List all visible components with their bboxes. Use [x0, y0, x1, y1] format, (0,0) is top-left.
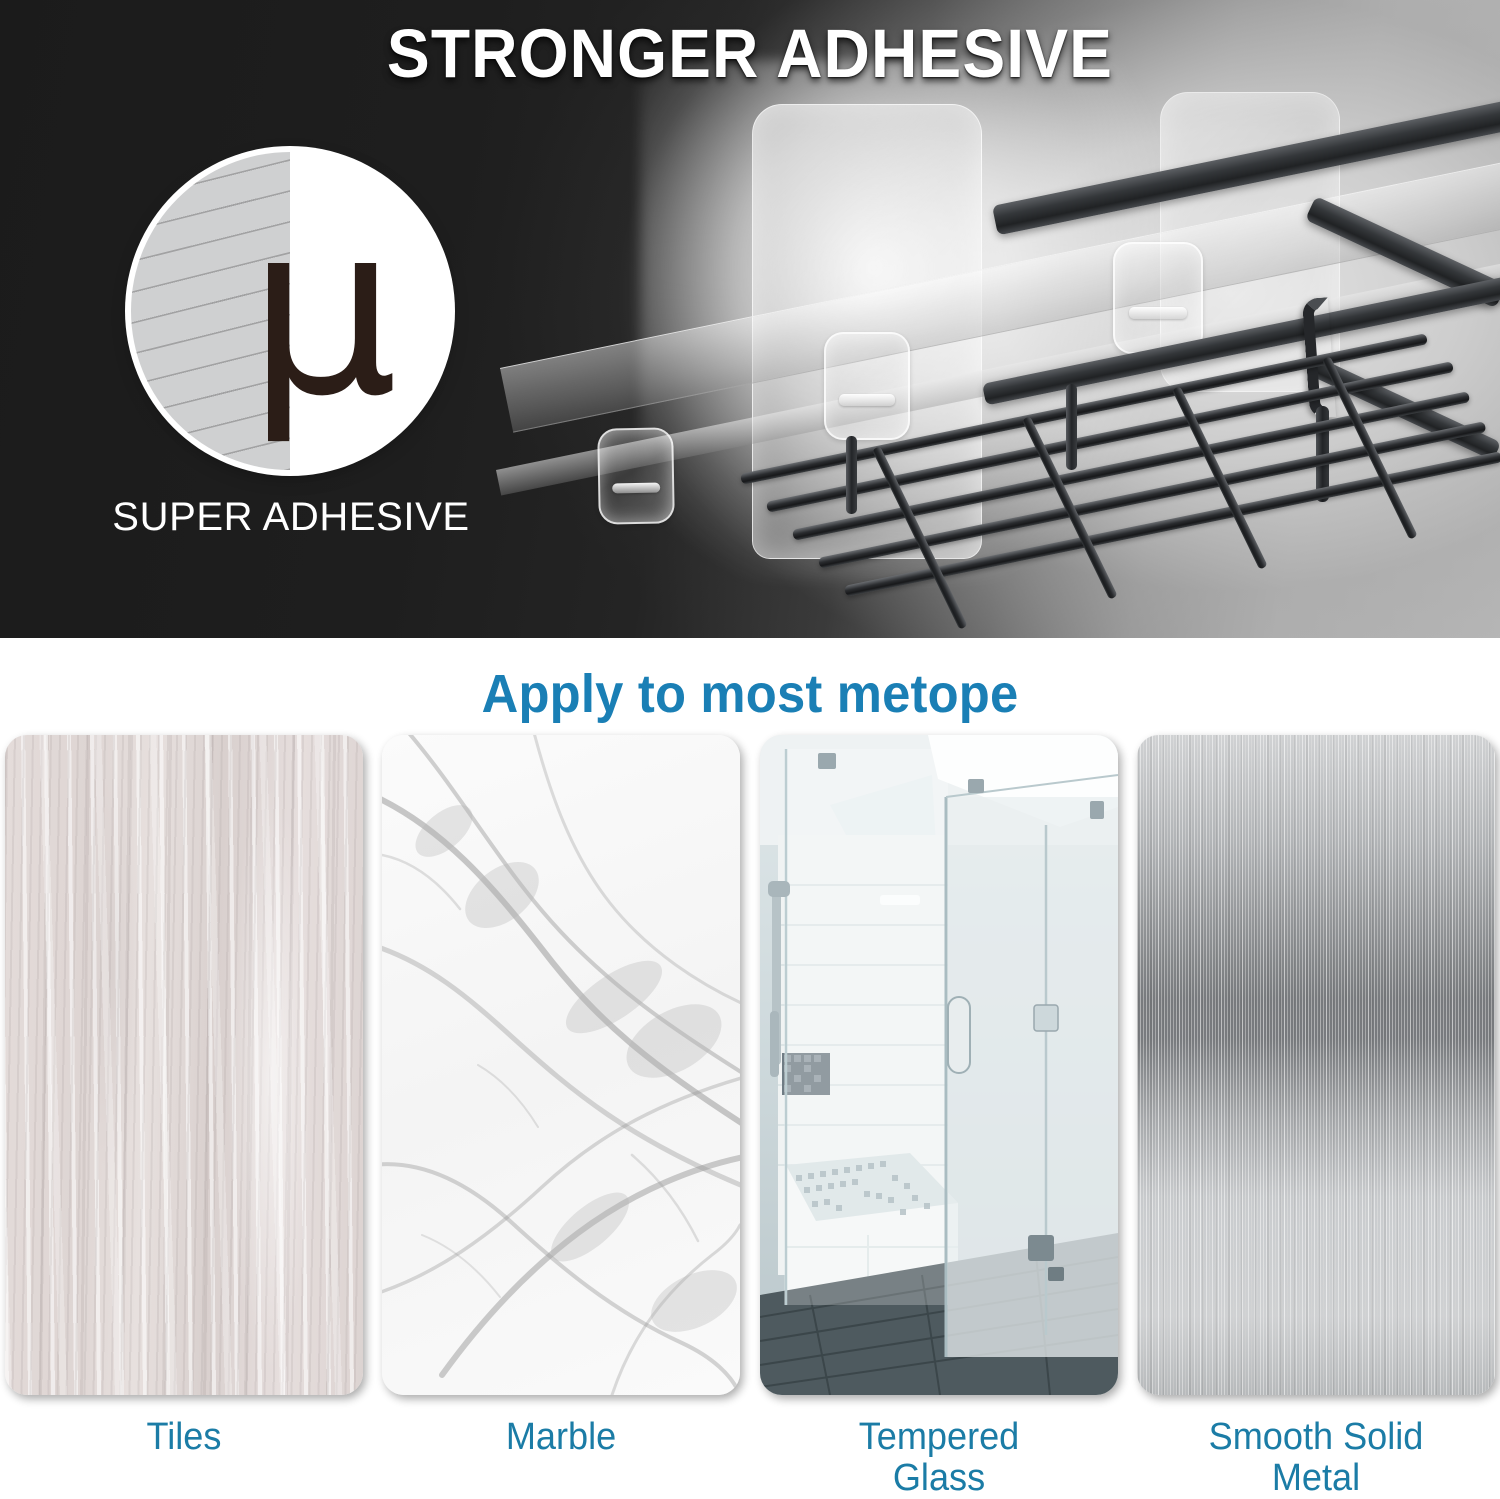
- super-adhesive-badge: μ: [131, 152, 449, 470]
- caddy-leg: [1066, 384, 1077, 470]
- page-title: STRONGER ADHESIVE: [53, 14, 1448, 93]
- marble-texture-image: [382, 735, 740, 1395]
- surfaces-section: Apply to most metope Tiles: [0, 638, 1500, 1470]
- caddy-leg: [846, 436, 857, 514]
- metal-texture-image: [1137, 735, 1495, 1395]
- surface-swatch-row: Tiles: [0, 735, 1500, 1395]
- surface-label-marble: Marble: [391, 1417, 731, 1458]
- surface-item-tempered-glass: Tempered Glass: [760, 735, 1118, 1395]
- shower-caddy-shelf: [760, 170, 1500, 638]
- surface-item-marble: Marble: [382, 735, 740, 1395]
- mu-symbol-icon: μ: [248, 193, 398, 429]
- basket-wire: [792, 391, 1470, 541]
- surface-item-metal: Smooth Solid Metal: [1137, 735, 1495, 1395]
- badge-caption: SUPER ADHESIVE: [56, 494, 526, 541]
- section-title: Apply to most metope: [45, 663, 1455, 725]
- tempered-glass-photo: [760, 735, 1118, 1395]
- surface-label-tiles: Tiles: [14, 1417, 354, 1458]
- hero-banner: μ SUPER ADHESIVE STRONGER ADHESIVE: [0, 0, 1500, 638]
- surface-label-tempered-glass: Tempered Glass: [769, 1417, 1109, 1499]
- adhesive-pad-left: [597, 427, 675, 524]
- surface-label-metal: Smooth Solid Metal: [1146, 1417, 1486, 1499]
- badge-circle: μ: [131, 152, 449, 470]
- surface-item-tiles: Tiles: [5, 735, 363, 1395]
- tiles-texture-image: [5, 735, 363, 1395]
